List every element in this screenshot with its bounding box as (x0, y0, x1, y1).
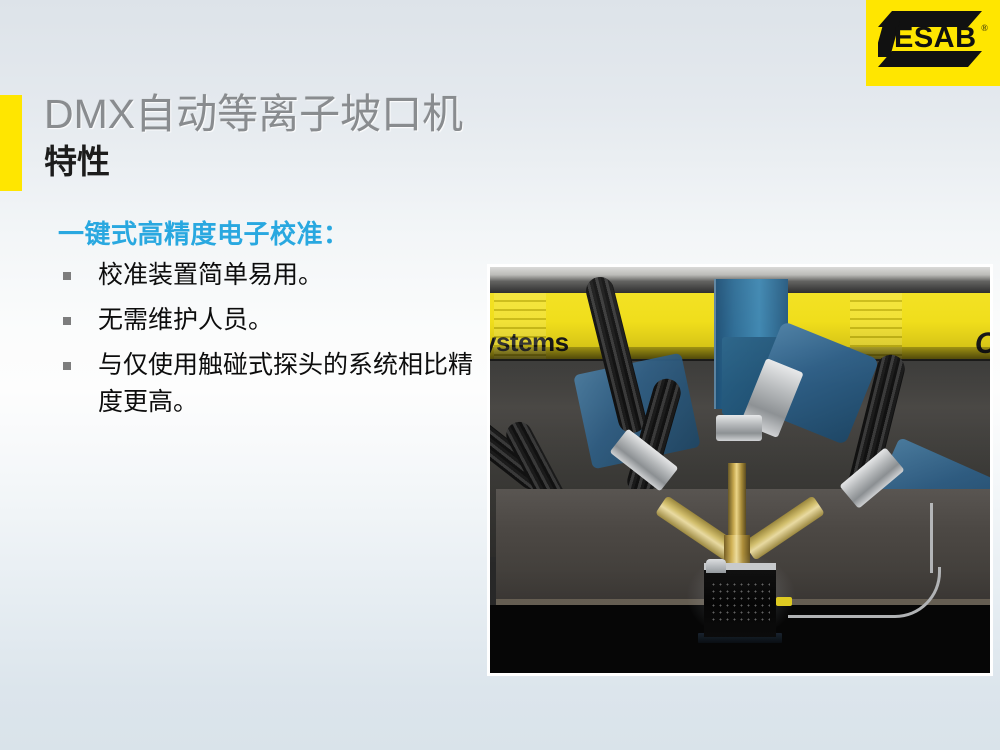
photo-calibration-knob (706, 559, 726, 573)
photo-torch-collar (716, 415, 762, 441)
slide-canvas: ESAB ® DMX自动等离子坡口机 特性 一键式高精度电子校准： 校准装置简单… (0, 0, 1000, 750)
photo-calibration-sensor-grid (710, 581, 770, 625)
lead-heading: 一键式高精度电子校准： (58, 215, 478, 253)
bullet-square-icon (63, 362, 71, 370)
title-accent-bar (0, 95, 22, 191)
registered-mark-icon: ® (981, 24, 988, 33)
title-group: DMX自动等离子坡口机 特性 (44, 88, 684, 184)
bullet-square-icon (63, 317, 71, 325)
esab-logo-block: ESAB ® (866, 0, 1000, 86)
photo-calibration-cable-vertical (930, 503, 933, 573)
esab-logo-icon: ESAB (878, 7, 982, 71)
plasma-bevelling-machine-photo: ystems C (490, 267, 990, 673)
svg-text:ESAB: ESAB (894, 22, 977, 54)
list-item: 与仅使用触碰式探头的系统相比精度更高。 (58, 347, 478, 421)
list-item: 校准装置简单易用。 (58, 257, 478, 294)
page-subtitle: 特性 (44, 140, 684, 184)
photo-frame: ystems C (487, 264, 993, 676)
list-item: 无需维护人员。 (58, 302, 478, 339)
photo-calibration-cable (788, 567, 941, 618)
bullet-square-icon (63, 272, 71, 280)
list-item-label: 无需维护人员。 (98, 306, 273, 334)
list-item-label: 校准装置简单易用。 (98, 261, 323, 289)
feature-bullet-list: 校准装置简单易用。 无需维护人员。 与仅使用触碰式探头的系统相比精度更高。 (58, 257, 478, 421)
list-item-label: 与仅使用触碰式探头的系统相比精度更高。 (98, 351, 473, 416)
content-body: 一键式高精度电子校准： 校准装置简单易用。 无需维护人员。 与仅使用触碰式探头的… (58, 215, 478, 429)
page-title: DMX自动等离子坡口机 (44, 88, 684, 141)
